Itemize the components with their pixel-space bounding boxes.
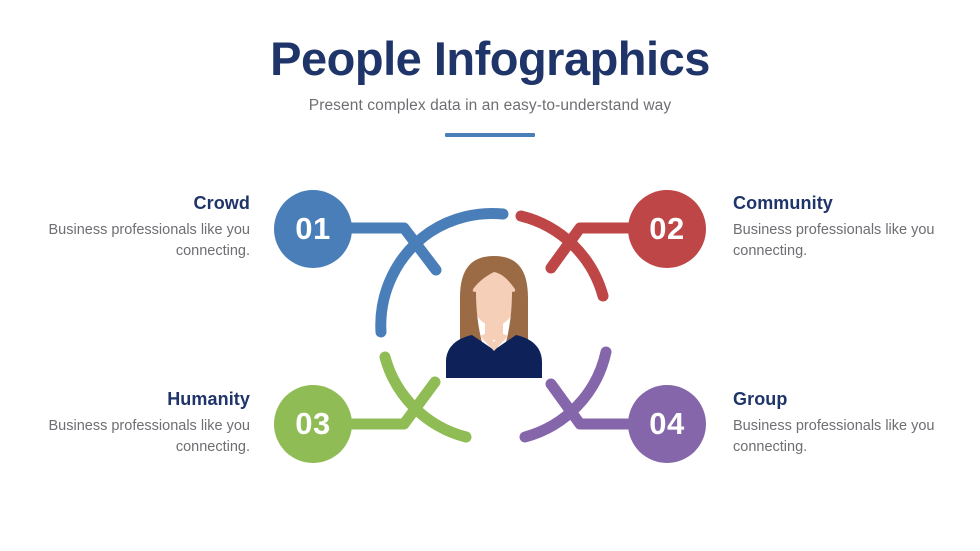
step-description-01: Business professionals like you connecti… [10, 220, 250, 261]
step-title-01: Crowd [10, 193, 250, 214]
step-number-03: 03 [295, 406, 330, 442]
step-circle-04[interactable]: 04 [628, 385, 706, 463]
step-description-04: Business professionals like you connecti… [733, 416, 973, 457]
step-number-02: 02 [649, 211, 684, 247]
step-text-block-02: Community Business professionals like yo… [733, 193, 973, 261]
step-circle-01[interactable]: 01 [274, 190, 352, 268]
avatar-body [446, 335, 542, 378]
step-title-03: Humanity [10, 389, 250, 410]
step-text-block-03: Humanity Business professionals like you… [10, 389, 250, 457]
step-description-02: Business professionals like you connecti… [733, 220, 973, 261]
step-text-block-01: Crowd Business professionals like you co… [10, 193, 250, 261]
step-circle-02[interactable]: 02 [628, 190, 706, 268]
person-avatar-illustration [438, 250, 550, 380]
step-text-block-04: Group Business professionals like you co… [733, 389, 973, 457]
slide-canvas: People Infographics Present complex data… [0, 0, 980, 551]
infographic-diagram: 01 02 03 04 Crowd Business professionals… [0, 0, 980, 551]
step-number-04: 04 [649, 406, 684, 442]
step-circle-03[interactable]: 03 [274, 385, 352, 463]
step-description-03: Business professionals like you connecti… [10, 416, 250, 457]
step-title-04: Group [733, 389, 973, 410]
step-title-02: Community [733, 193, 973, 214]
step-number-01: 01 [295, 211, 330, 247]
